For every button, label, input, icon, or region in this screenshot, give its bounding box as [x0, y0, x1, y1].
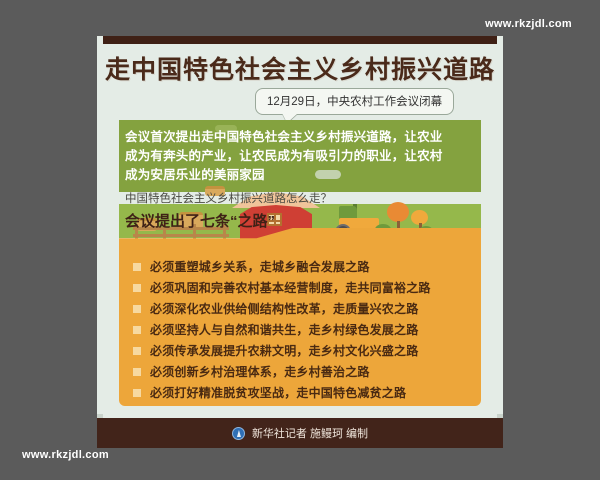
bullet-square-icon — [133, 305, 141, 313]
list-item: 必须重塑城乡关系，走城乡融合发展之路 — [133, 256, 471, 277]
bullet-square-icon — [133, 389, 141, 397]
list-item-label: 必须创新乡村治理体系，走乡村善治之路 — [150, 363, 370, 380]
page-title: 走中国特色社会主义乡村振兴道路 — [97, 50, 503, 86]
date-callout-text: 12月29日，中央农村工作会议闭幕 — [255, 88, 454, 115]
list-item: 必须坚持人与自然和谐共生，走乡村绿色发展之路 — [133, 319, 471, 340]
list-item: 必须打好精准脱贫攻坚战，走中国特色减贫之路 — [133, 382, 471, 403]
bullet-list: 必须重塑城乡关系，走城乡融合发展之路 必须巩固和完善农村基本经营制度，走共同富裕… — [133, 256, 471, 403]
statement-line-2: 成为有奔头的产业，让农民成为有吸引力的职业，让农村 — [125, 147, 455, 166]
date-callout: 12月29日，中央农村工作会议闭幕 — [255, 88, 454, 115]
list-item: 必须创新乡村治理体系，走乡村善治之路 — [133, 361, 471, 382]
bullet-square-icon — [133, 263, 141, 271]
list-item-label: 必须传承发展提升农耕文明，走乡村文化兴盛之路 — [150, 342, 418, 359]
list-item: 必须巩固和完善农村基本经营制度，走共同富裕之路 — [133, 277, 471, 298]
watermark-bottom: www.rkzjdl.com — [22, 449, 109, 461]
list-item-label: 必须坚持人与自然和谐共生，走乡村绿色发展之路 — [150, 321, 418, 338]
watermark-top: www.rkzjdl.com — [485, 18, 572, 30]
list-item-label: 必须巩固和完善农村基本经营制度，走共同富裕之路 — [150, 279, 431, 296]
bullet-panel: 必须重塑城乡关系，走城乡融合发展之路 必须巩固和完善农村基本经营制度，走共同富裕… — [119, 250, 481, 406]
question-line: 中国特色社会主义乡村振兴道路怎么走？ — [125, 190, 332, 206]
question-block: 中国特色社会主义乡村振兴道路怎么走？ 会议提出了七条“之路” — [125, 190, 332, 231]
footer-bar: 新华社记者 施鳗珂 编制 — [97, 418, 503, 448]
statement-line-3: 成为安居乐业的美丽家园 — [125, 166, 455, 185]
infographic-poster: 走中国特色社会主义乡村振兴道路 12月29日，中央农村工作会议闭幕 会议首次提出… — [97, 36, 503, 448]
list-item: 必须深化农业供给侧结构性改革，走质量兴农之路 — [133, 298, 471, 319]
list-item-label: 必须重塑城乡关系，走城乡融合发展之路 — [150, 258, 370, 275]
list-item-label: 必须深化农业供给侧结构性改革，走质量兴农之路 — [150, 300, 418, 317]
bullet-square-icon — [133, 326, 141, 334]
top-accent-bar — [103, 36, 497, 44]
statement-line-1: 会议首次提出走中国特色社会主义乡村振兴道路，让农业 — [125, 128, 455, 147]
xinhua-logo-icon — [232, 427, 245, 440]
statement-green-box: 会议首次提出走中国特色社会主义乡村振兴道路，让农业 成为有奔头的产业，让农民成为… — [125, 126, 455, 185]
tree-icon — [387, 202, 409, 230]
bullet-square-icon — [133, 368, 141, 376]
bullet-square-icon — [133, 347, 141, 355]
footer-credit: 新华社记者 施鳗珂 编制 — [252, 425, 368, 441]
list-item: 必须传承发展提升农耕文明，走乡村文化兴盛之路 — [133, 340, 471, 361]
list-item-label: 必须打好精准脱贫攻坚战，走中国特色减贫之路 — [150, 384, 406, 401]
bullet-square-icon — [133, 284, 141, 292]
